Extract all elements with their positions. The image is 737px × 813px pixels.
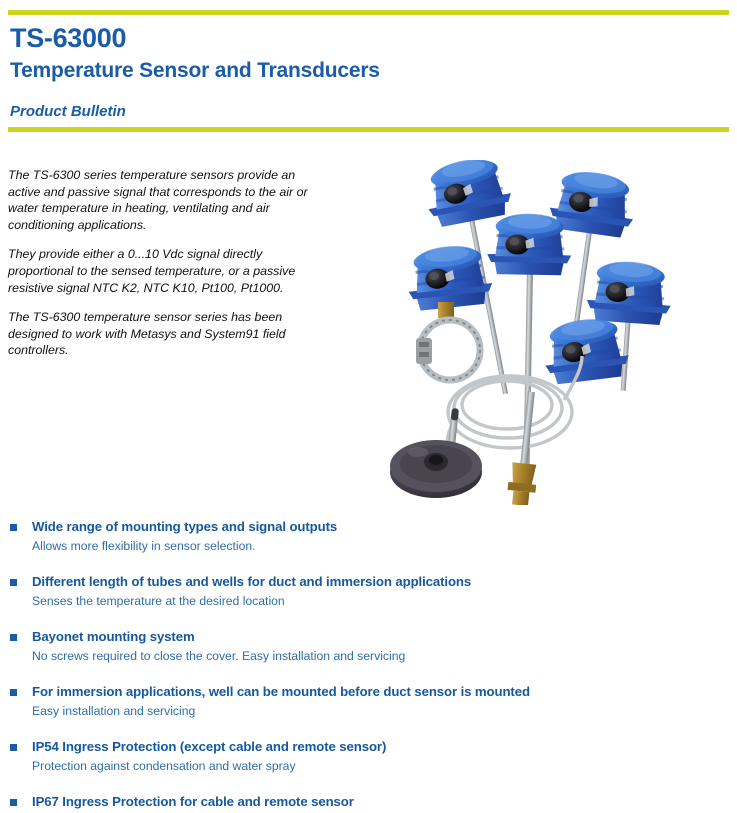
feature-description: Easy installation and servicing: [32, 703, 729, 719]
feature-item: IP54 Ingress Protection (except cable an…: [8, 738, 729, 774]
features-list: Wide range of mounting types and signal …: [8, 518, 729, 813]
feature-title: Wide range of mounting types and signal …: [32, 518, 729, 535]
bullet-square-icon: [10, 799, 17, 806]
bullet-square-icon: [10, 579, 17, 586]
product-photo: [368, 160, 708, 505]
intro-paragraph: They provide either a 0...10 Vdc signal …: [8, 246, 330, 296]
document-code: TS-63000: [10, 22, 727, 54]
feature-description: Allows more flexibility in sensor select…: [32, 538, 729, 554]
document-title: Temperature Sensor and Transducers: [10, 58, 727, 84]
bullet-square-icon: [10, 744, 17, 751]
bullet-square-icon: [10, 524, 17, 531]
feature-title: For immersion applications, well can be …: [32, 683, 729, 700]
feature-item: For immersion applications, well can be …: [8, 683, 729, 719]
header-block: TS-63000 Temperature Sensor and Transduc…: [10, 22, 727, 122]
feature-title: IP67 Ingress Protection for cable and re…: [32, 793, 729, 810]
intro-paragraph: The TS-6300 temperature sensor series ha…: [8, 309, 330, 359]
feature-item: Bayonet mounting system No screws requir…: [8, 628, 729, 664]
feature-item: Different length of tubes and wells for …: [8, 573, 729, 609]
intro-text-block: The TS-6300 series temperature sensors p…: [8, 167, 330, 359]
feature-item: Wide range of mounting types and signal …: [8, 518, 729, 554]
header-rule-bottom: [8, 127, 729, 132]
feature-description: Senses the temperature at the desired lo…: [32, 593, 729, 609]
header-rule-top: [8, 10, 729, 15]
product-bulletin-page: TS-63000 Temperature Sensor and Transduc…: [0, 0, 737, 794]
intro-paragraph: The TS-6300 series temperature sensors p…: [8, 167, 330, 233]
document-subtitle: Product Bulletin: [10, 102, 727, 122]
feature-description: No screws required to close the cover. E…: [32, 648, 729, 664]
feature-title: IP54 Ingress Protection (except cable an…: [32, 738, 729, 755]
feature-title: Bayonet mounting system: [32, 628, 729, 645]
bullet-square-icon: [10, 689, 17, 696]
feature-description: Protection against condensation and wate…: [32, 758, 729, 774]
feature-title: Different length of tubes and wells for …: [32, 573, 729, 590]
bullet-square-icon: [10, 634, 17, 641]
feature-item: IP67 Ingress Protection for cable and re…: [8, 793, 729, 810]
